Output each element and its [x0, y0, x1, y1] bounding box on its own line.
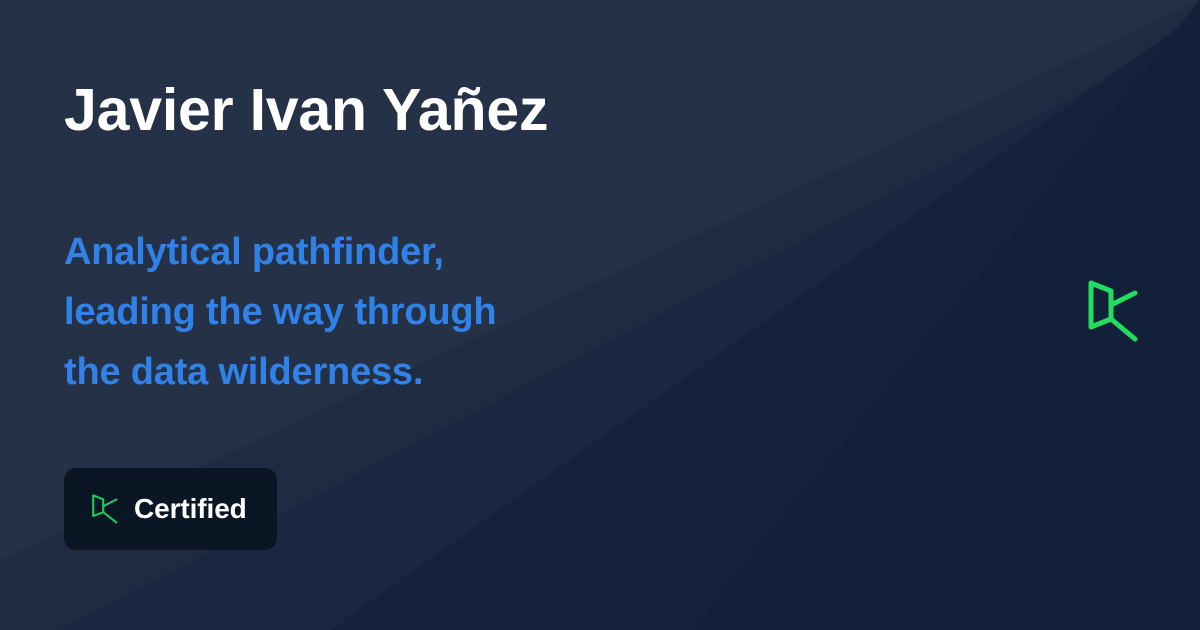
brand-logo-icon [90, 493, 120, 525]
tagline-line-3: the data wilderness. [64, 351, 423, 393]
social-share-card: Javier Ivan Yañez Analytical pathfinder,… [0, 0, 1200, 630]
profile-tagline: Analytical pathfinder, leading the way t… [64, 222, 664, 402]
tagline-line-2: leading the way through [64, 291, 496, 333]
certified-badge[interactable]: Certified [64, 468, 277, 550]
card-content: Javier Ivan Yañez Analytical pathfinder,… [64, 0, 784, 630]
certified-badge-label: Certified [134, 493, 247, 525]
tagline-line-1: Analytical pathfinder, [64, 231, 444, 273]
page-title: Javier Ivan Yañez [64, 77, 548, 143]
brand-logo-large [1086, 278, 1140, 344]
brand-logo-icon [1086, 278, 1140, 344]
